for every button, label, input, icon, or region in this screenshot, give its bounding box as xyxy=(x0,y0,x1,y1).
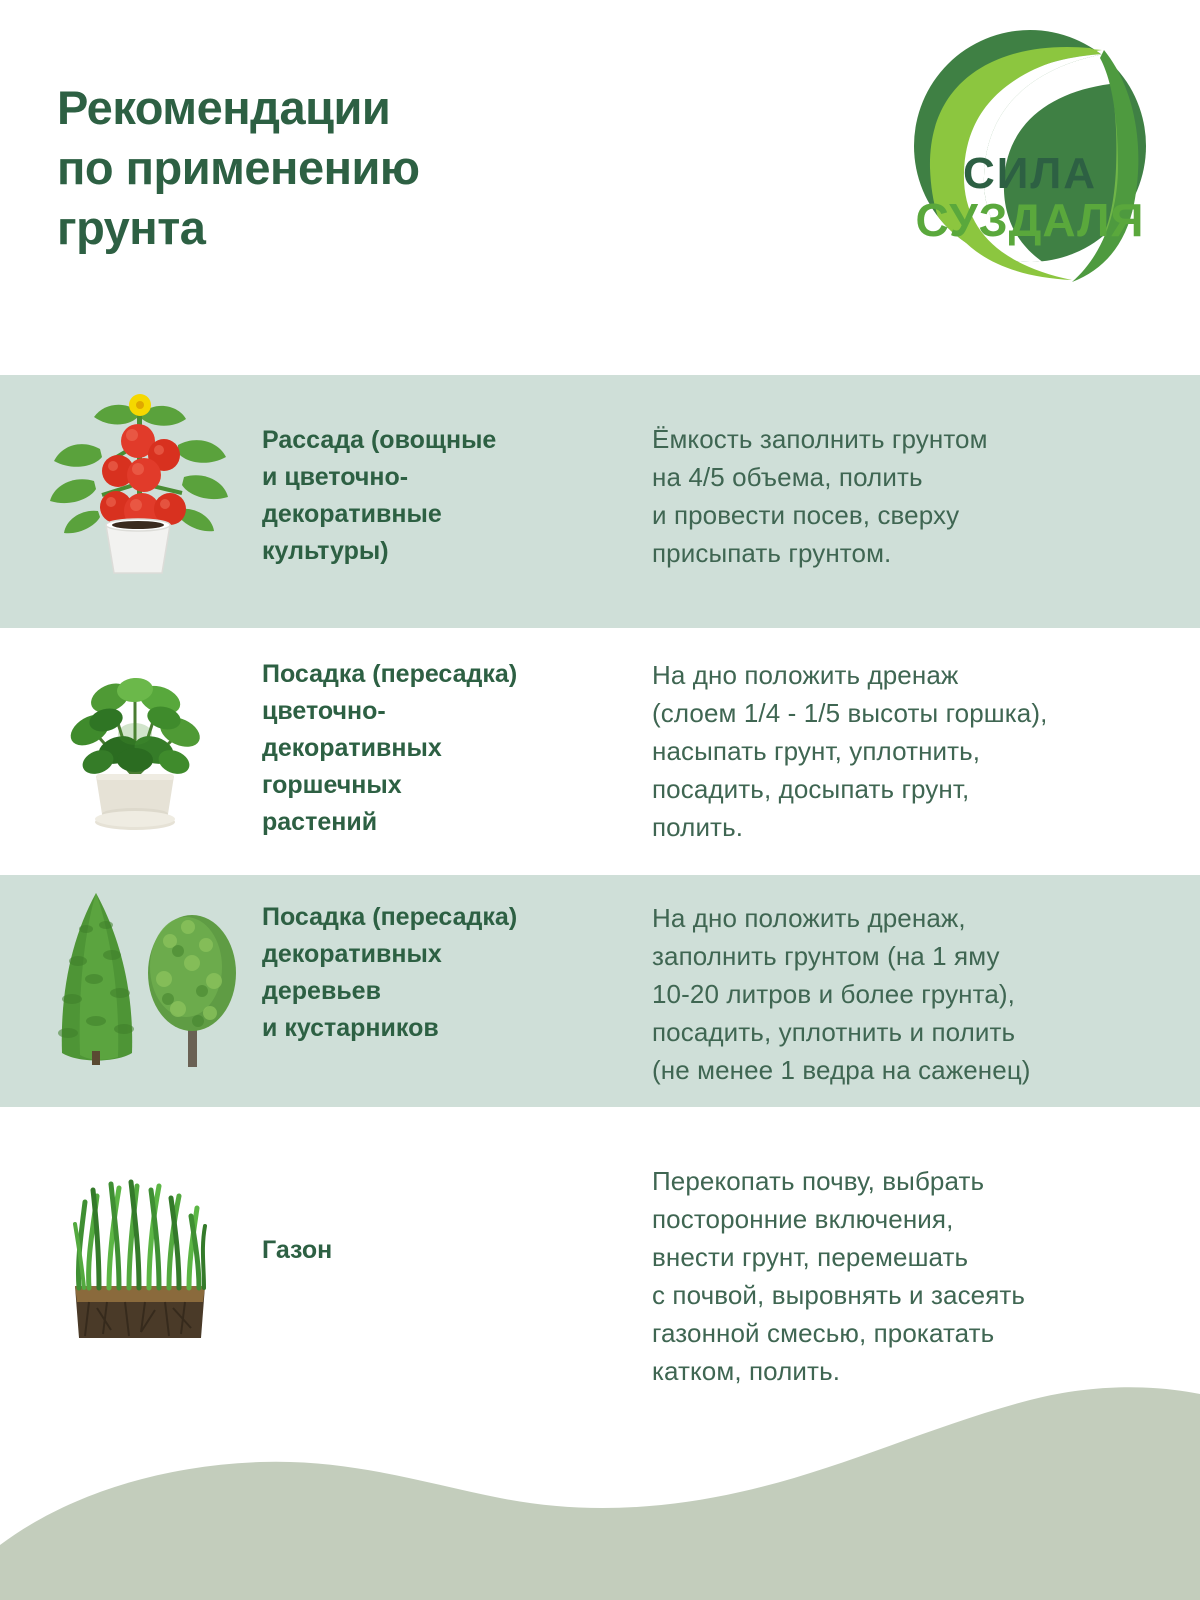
logo-line2: СУЗДАЛЯ xyxy=(916,194,1145,246)
recommendation-row: Посадка (пересадка) декоративных деревье… xyxy=(0,875,1200,1107)
conifer-and-deciduous-trees-icon xyxy=(38,881,243,1076)
row-image-cell xyxy=(0,628,250,875)
infographic-page: Рекомендации по применению грунта xyxy=(0,0,1200,1600)
row-label: Газон xyxy=(262,1232,632,1269)
leaf-circle-logo-icon: СИЛА СУЗДАЛЯ xyxy=(890,18,1170,288)
row-description: Перекопать почву, выбрать посторонние вк… xyxy=(652,1162,1172,1390)
row-image-cell xyxy=(0,875,250,1107)
row-description: Ёмкость заполнить грунтом на 4/5 объема,… xyxy=(652,420,1172,572)
brand-logo: СИЛА СУЗДАЛЯ xyxy=(890,18,1170,288)
row-description: На дно положить дренаж (слоем 1/4 - 1/5 … xyxy=(652,656,1172,846)
recommendation-row: Рассада (овощные и цветочно- декоративны… xyxy=(0,375,1200,628)
row-label: Посадка (пересадка) цветочно- декоративн… xyxy=(262,656,632,841)
recommendation-row: Посадка (пересадка) цветочно- декоративн… xyxy=(0,628,1200,875)
page-title: Рекомендации по применению грунта xyxy=(57,78,420,258)
potted-houseplant-icon xyxy=(40,638,230,833)
tomato-seedling-in-pot-icon xyxy=(38,383,238,578)
lawn-turf-block-icon xyxy=(45,1152,235,1352)
wave-shape-icon xyxy=(0,1370,1200,1600)
header: Рекомендации по применению грунта xyxy=(0,0,1200,375)
row-label: Рассада (овощные и цветочно- декоративны… xyxy=(262,422,632,570)
row-label: Посадка (пересадка) декоративных деревье… xyxy=(262,899,632,1047)
row-image-cell xyxy=(0,375,250,628)
bottom-wave-decoration xyxy=(0,1370,1200,1600)
logo-line1: СИЛА xyxy=(963,149,1097,198)
row-description: На дно положить дренаж, заполнить грунто… xyxy=(652,899,1172,1089)
